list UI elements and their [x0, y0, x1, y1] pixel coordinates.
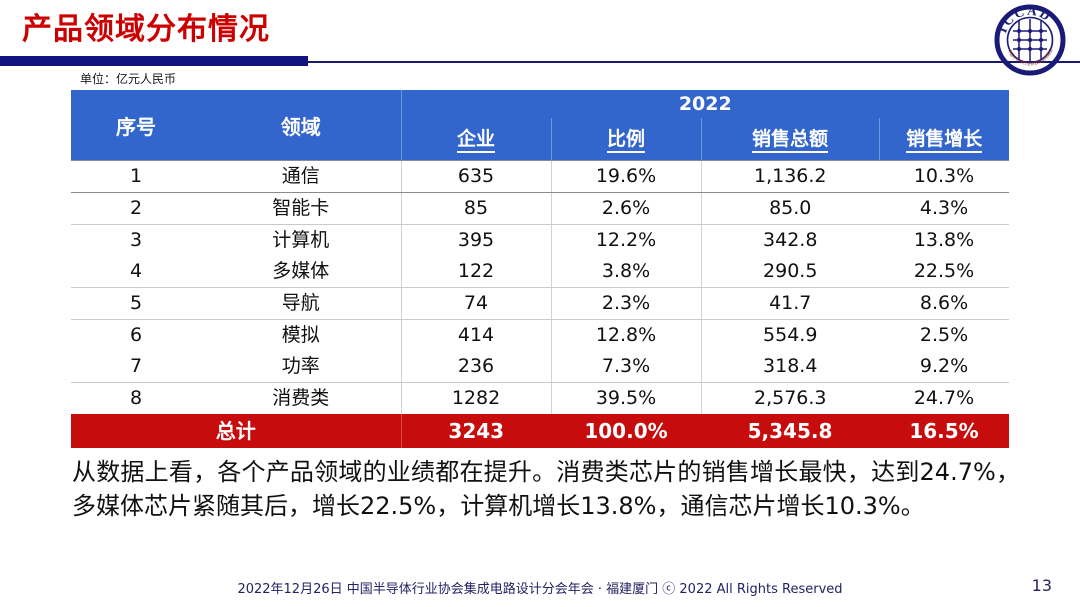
cell-seq: 1 — [71, 161, 201, 193]
cell-field: 多媒体 — [201, 256, 401, 288]
page-title: 产品领域分布情况 — [22, 10, 270, 50]
cell-ratio: 7.3% — [551, 351, 701, 383]
column-header-sales-growth-label: 销售增长 — [906, 128, 982, 153]
cell-enterprises: 122 — [401, 256, 551, 288]
table-total-row: 总计 3243 100.0% 5,345.8 16.5% — [71, 414, 1009, 448]
table-row: 7 功率 236 7.3% 318.4 9.2% — [71, 351, 1009, 383]
cell-field: 通信 — [201, 161, 401, 193]
column-header-field: 领域 — [201, 90, 401, 161]
cell-sales-growth: 10.3% — [879, 161, 1009, 193]
cell-enterprises: 74 — [401, 288, 551, 320]
cell-sales-growth: 9.2% — [879, 351, 1009, 383]
cell-enterprises: 1282 — [401, 383, 551, 415]
cell-sales-growth: 2.5% — [879, 320, 1009, 352]
iccad-logo: ICCAD 中国半导体行业协会集成电路设计分会 — [994, 4, 1066, 76]
table-body: 1 通信 635 19.6% 1,136.2 10.3% 2 智能卡 85 2.… — [71, 161, 1009, 449]
column-header-seq: 序号 — [71, 90, 201, 161]
cell-ratio: 12.8% — [551, 320, 701, 352]
cell-field: 计算机 — [201, 225, 401, 257]
cell-ratio: 19.6% — [551, 161, 701, 193]
cell-seq: 8 — [71, 383, 201, 415]
table-row: 2 智能卡 85 2.6% 85.0 4.3% — [71, 193, 1009, 225]
cell-total-ratio: 100.0% — [551, 414, 701, 448]
cell-sales-total: 554.9 — [701, 320, 879, 352]
cell-total-sales-total: 5,345.8 — [701, 414, 879, 448]
cell-sales-growth: 22.5% — [879, 256, 1009, 288]
cell-seq: 2 — [71, 193, 201, 225]
cell-ratio: 39.5% — [551, 383, 701, 415]
cell-sales-total: 2,576.3 — [701, 383, 879, 415]
table-row: 1 通信 635 19.6% 1,136.2 10.3% — [71, 161, 1009, 193]
cell-enterprises: 236 — [401, 351, 551, 383]
cell-sales-total: 342.8 — [701, 225, 879, 257]
cell-ratio: 2.3% — [551, 288, 701, 320]
column-header-year-2022: 2022 — [401, 90, 1009, 118]
logo-wordmark: ICCAD — [994, 4, 1054, 35]
table-row: 6 模拟 414 12.8% 554.9 2.5% — [71, 320, 1009, 352]
cell-sales-total: 1,136.2 — [701, 161, 879, 193]
cell-sales-growth: 24.7% — [879, 383, 1009, 415]
table-head-row-group: 序号 领域 2022 — [71, 90, 1009, 118]
footer-text: 2022年12月26日 中国半导体行业协会集成电路设计分会年会 · 福建厦门 ⓒ… — [0, 578, 1080, 597]
cell-sales-total: 290.5 — [701, 256, 879, 288]
column-header-ratio: 比例 — [551, 118, 701, 161]
cell-field: 模拟 — [201, 320, 401, 352]
column-header-enterprises-label: 企业 — [457, 128, 495, 153]
iccad-logo-icon: ICCAD 中国半导体行业协会集成电路设计分会 — [994, 4, 1066, 76]
cell-seq: 4 — [71, 256, 201, 288]
cell-sales-growth: 13.8% — [879, 225, 1009, 257]
cell-field: 智能卡 — [201, 193, 401, 225]
cell-sales-growth: 4.3% — [879, 193, 1009, 225]
cell-sales-total: 318.4 — [701, 351, 879, 383]
column-header-sales-total: 销售总额 — [701, 118, 879, 161]
cell-total-sales-growth: 16.5% — [879, 414, 1009, 448]
table-head: 序号 领域 2022 企业 比例 销售总额 销售增长 — [71, 90, 1009, 161]
cell-enterprises: 395 — [401, 225, 551, 257]
cell-ratio: 12.2% — [551, 225, 701, 257]
column-header-sales-total-label: 销售总额 — [752, 128, 828, 153]
cell-enterprises: 85 — [401, 193, 551, 225]
cell-ratio: 3.8% — [551, 256, 701, 288]
cell-sales-total: 85.0 — [701, 193, 879, 225]
cell-field: 功率 — [201, 351, 401, 383]
page-number: 13 — [1032, 576, 1052, 595]
column-header-ratio-label: 比例 — [607, 128, 645, 153]
table-row: 4 多媒体 122 3.8% 290.5 22.5% — [71, 256, 1009, 288]
cell-total-enterprises: 3243 — [401, 414, 551, 448]
svg-text:ICCAD: ICCAD — [994, 4, 1054, 35]
table-row: 3 计算机 395 12.2% 342.8 13.8% — [71, 225, 1009, 257]
cell-field: 导航 — [201, 288, 401, 320]
cell-enterprises: 635 — [401, 161, 551, 193]
analysis-paragraph: 从数据上看，各个产品领域的业绩都在提升。消费类芯片的销售增长最快，达到24.7%… — [72, 455, 1020, 523]
unit-note: 单位：亿元人民币 — [80, 70, 176, 87]
cell-seq: 5 — [71, 288, 201, 320]
cell-sales-total: 41.7 — [701, 288, 879, 320]
column-header-enterprises: 企业 — [401, 118, 551, 161]
cell-enterprises: 414 — [401, 320, 551, 352]
cell-ratio: 2.6% — [551, 193, 701, 225]
table-row: 8 消费类 1282 39.5% 2,576.3 24.7% — [71, 383, 1009, 415]
product-field-distribution-table: 序号 领域 2022 企业 比例 销售总额 销售增长 1 通信 635 19.6… — [71, 90, 1009, 448]
cell-seq: 7 — [71, 351, 201, 383]
cell-field: 消费类 — [201, 383, 401, 415]
cell-seq: 6 — [71, 320, 201, 352]
table-row: 5 导航 74 2.3% 41.7 8.6% — [71, 288, 1009, 320]
cell-sales-growth: 8.6% — [879, 288, 1009, 320]
header-rule-thick — [0, 56, 308, 66]
column-header-sales-growth: 销售增长 — [879, 118, 1009, 161]
cell-seq: 3 — [71, 225, 201, 257]
cell-total-label: 总计 — [71, 414, 401, 448]
